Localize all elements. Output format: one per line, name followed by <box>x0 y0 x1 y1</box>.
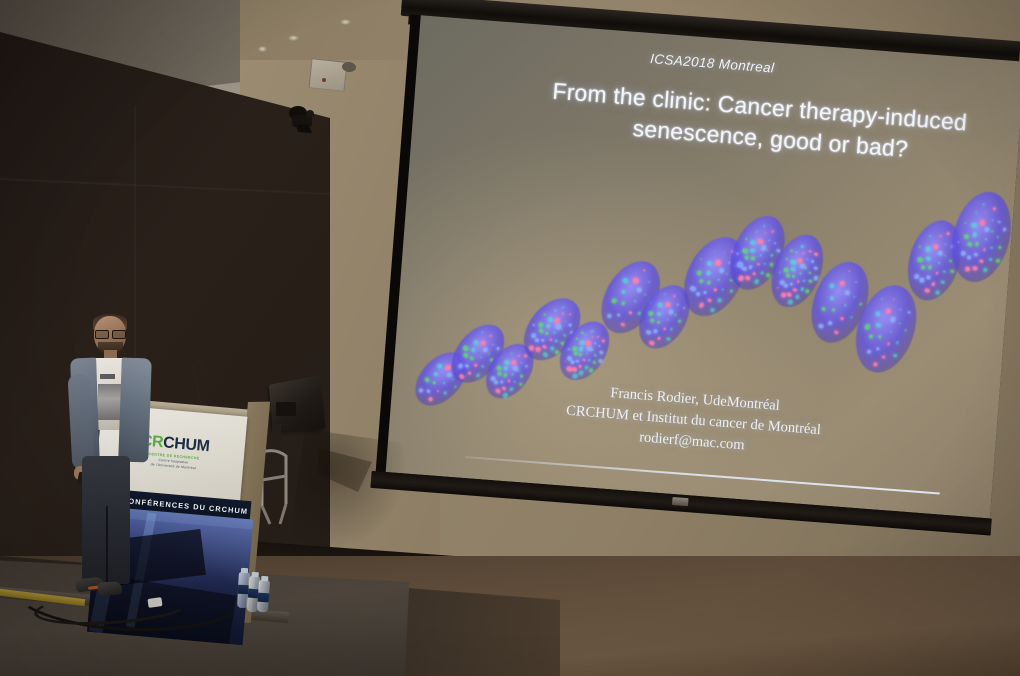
nucleus-speckle <box>920 265 925 270</box>
nucleus-speckle <box>990 246 993 249</box>
nucleus-speckle <box>938 262 940 264</box>
lens-left <box>95 330 109 339</box>
nucleus-speckle <box>853 296 855 298</box>
nucleus-speckle <box>670 327 673 330</box>
nucleus-speckle <box>898 322 900 324</box>
nucleus-speckle <box>436 362 443 369</box>
nucleus-speckle <box>511 352 513 354</box>
nucleus-speckle <box>644 294 646 296</box>
nucleus-speckle <box>802 279 805 282</box>
nucleus-speckle <box>643 269 645 271</box>
nucleus-speckle <box>528 344 535 351</box>
nucleus-speckle <box>933 244 939 250</box>
nucleus-speckle <box>418 387 424 393</box>
nucleus-speckle <box>929 235 931 237</box>
nucleus-speckle <box>724 252 726 254</box>
nucleus-speckle <box>855 281 857 283</box>
nucleus-speckle <box>621 289 627 295</box>
nucleus-speckle <box>876 323 881 328</box>
nucleus-speckle <box>564 320 566 322</box>
nucleus-speckle <box>544 331 549 336</box>
nucleus-speckle <box>598 344 601 347</box>
nucleus-speckle <box>805 288 811 294</box>
nucleus-speckle <box>590 330 593 333</box>
nucleus-speckle <box>944 255 946 257</box>
wall-shadow <box>288 429 411 561</box>
nucleus-speckle <box>754 278 760 284</box>
nucleus-speckle <box>828 282 835 289</box>
tshirt-graphic <box>98 384 122 420</box>
nucleus-speckle <box>562 313 564 315</box>
presenter <box>58 316 168 616</box>
nucleus-speckle <box>791 274 795 278</box>
nucleus-speckle <box>991 219 993 221</box>
nucleus-speckle <box>779 271 781 273</box>
nucleus-speckle <box>546 316 553 323</box>
nucleus-speckle <box>472 338 479 345</box>
nucleus-speckle <box>699 303 705 309</box>
nucleus-speckle <box>771 230 774 233</box>
nucleus-speckle <box>543 313 545 315</box>
nucleus-speckle <box>705 270 711 276</box>
nucleus-speckle <box>939 235 941 237</box>
nucleus-speckle <box>867 349 872 354</box>
nucleus-speckle <box>1003 228 1007 232</box>
nucleus-speckle <box>677 304 679 306</box>
nucleus-speckle <box>718 267 725 274</box>
nucleus-speckle <box>925 246 931 252</box>
nucleus-speckle <box>462 345 469 352</box>
nucleus-speckle <box>926 275 930 279</box>
nucleus-speckle <box>814 266 818 270</box>
nucleus-speckle <box>480 339 487 346</box>
nucleus-speckle <box>470 347 476 353</box>
nucleus-speckle <box>537 321 544 328</box>
nucleus-speckle <box>632 277 639 284</box>
nucleus-speckle <box>941 280 945 284</box>
nucleus-speckle <box>979 259 983 263</box>
nucleus-speckle <box>984 226 990 232</box>
lecture-hall-photo: ICSA2018 Montreal From the clinic: Cance… <box>0 0 1020 676</box>
nucleus-speckle <box>738 275 745 282</box>
nucleus-speckle <box>777 287 779 289</box>
nucleus-speckle <box>806 258 808 260</box>
nucleus-speckle <box>935 272 938 275</box>
recessed-downlight <box>288 35 299 41</box>
nucleus-speckle <box>878 334 882 338</box>
wall-mounted-camera-icon <box>286 105 322 135</box>
nucleus-speckle <box>793 288 797 292</box>
nucleus-speckle <box>578 370 584 376</box>
bottle-cap <box>261 576 268 581</box>
nucleus-speckle <box>592 336 594 338</box>
nucleus-speckle <box>459 373 465 379</box>
nucleus-speckle <box>785 273 791 279</box>
nucleus-speckle <box>458 363 464 369</box>
nucleus-speckle <box>998 246 1002 250</box>
nucleus-speckle <box>885 308 892 315</box>
nucleus-speckle <box>695 291 701 297</box>
nucleus-speckle <box>582 358 585 361</box>
nucleus-speckle <box>859 303 862 306</box>
nucleus-speckle <box>844 289 851 296</box>
nucleus-speckle <box>787 299 794 306</box>
screen-pull-handle[interactable] <box>672 497 689 506</box>
bottle-label <box>258 593 270 603</box>
nucleus-speckle <box>663 327 666 330</box>
nucleus-speckle <box>568 323 572 327</box>
nucleus-speckle <box>649 318 655 324</box>
nucleus-speckle <box>750 248 756 254</box>
nucleus-speckle <box>453 385 457 389</box>
nucleus-speckle <box>597 358 603 364</box>
nucleus-speckle <box>575 359 580 364</box>
nucleus-speckle <box>926 256 931 261</box>
nucleus-speckle <box>917 257 923 263</box>
nucleus-speckle <box>989 257 993 261</box>
nucleus-speckle <box>568 313 572 317</box>
nucleus-speckle <box>666 336 671 341</box>
nucleus-speckle <box>647 310 654 317</box>
bottle-cap <box>241 568 248 573</box>
nucleus-speckle <box>967 255 972 260</box>
nucleus-speckle <box>443 391 447 395</box>
nucleus-speckle <box>946 232 949 235</box>
nucleus-speckle <box>983 248 986 251</box>
nucleus-speckle <box>742 248 749 255</box>
nucleus-speckle <box>829 295 835 301</box>
nucleus-speckle <box>950 269 954 273</box>
nucleus-speckle <box>490 335 492 337</box>
nucleus-speckle <box>900 309 902 311</box>
nucleus-speckle <box>611 298 617 304</box>
nucleus-speckle <box>913 273 919 279</box>
nucleus-speckle <box>718 278 720 280</box>
nucleus-speckle <box>996 235 999 238</box>
nucleus-speckle <box>786 258 788 260</box>
nucleus-speckle <box>607 313 613 319</box>
nucleus-speckle <box>805 267 807 269</box>
nucleus-speckle <box>890 330 892 332</box>
nucleus-speckle <box>599 350 604 355</box>
nucleus-speckle <box>874 311 881 318</box>
recessed-downlight <box>258 46 267 52</box>
nucleus-speckle <box>766 249 768 251</box>
nucleus-speckle <box>500 357 502 359</box>
nucleus-speckle <box>573 351 579 357</box>
nucleus-speckle <box>998 220 1001 223</box>
nucleus-speckle <box>770 254 773 257</box>
lens-right <box>112 330 126 339</box>
nucleus-speckle <box>721 288 724 291</box>
nucleus-speckle <box>748 265 752 269</box>
nucleus-speckle <box>578 353 583 358</box>
nucleus-speckle <box>664 293 666 295</box>
nucleus-speckle <box>814 252 818 256</box>
nucleus-speckle <box>750 239 757 246</box>
nucleus-speckle <box>752 271 756 275</box>
nucleus-speckle <box>924 288 929 293</box>
nucleus-speckle <box>893 299 895 301</box>
nucleus-speckle <box>786 292 792 298</box>
nucleus-speckle <box>657 320 662 325</box>
logo-suffix: CHUM <box>162 434 210 455</box>
nucleus-speckle <box>706 260 713 267</box>
nucleus-speckle <box>889 316 896 323</box>
nucleus-speckle <box>588 367 594 373</box>
nucleus-speckle <box>943 270 946 273</box>
nucleus-speckle <box>533 324 535 326</box>
nucleus-speckle <box>682 306 685 309</box>
nucleus-speckle <box>797 280 800 283</box>
nucleus-speckle <box>709 307 715 313</box>
nucleus-speckle <box>540 338 545 343</box>
nucleus-speckle <box>566 365 573 372</box>
nucleus-speckle <box>667 319 669 321</box>
nucleus-speckle <box>571 345 578 352</box>
nucleus-speckle <box>881 298 883 300</box>
nucleus-speckle <box>673 295 675 297</box>
nucleus-speckle <box>667 308 674 315</box>
nucleus-speckle <box>958 241 960 243</box>
nucleus-speckle <box>634 300 636 302</box>
nucleus-speckle <box>504 359 511 366</box>
nucleus-speckle <box>931 282 935 286</box>
nucleus-speckle <box>481 331 483 333</box>
nucleus-speckle <box>715 259 722 266</box>
nucleus-speckle <box>790 267 796 273</box>
nucleus-speckle <box>963 234 969 240</box>
nucleus-speckle <box>864 324 871 331</box>
nucleus-speckle <box>744 255 750 261</box>
nucleus-speckle <box>601 338 606 343</box>
nucleus-speckle <box>564 361 566 363</box>
nucleus-speckle <box>965 222 967 224</box>
nucleus-speckle <box>821 307 827 313</box>
nucleus-speckle <box>949 259 952 262</box>
nucleus-speckle <box>967 242 972 247</box>
nucleus-speckle <box>790 249 793 252</box>
nucleus-speckle <box>808 279 812 283</box>
nucleus-speckle <box>789 282 793 286</box>
nucleus-speckle <box>737 253 739 255</box>
nucleus-speckle <box>773 241 776 244</box>
nucleus-speckle <box>717 298 722 303</box>
nucleus-speckle <box>542 344 547 349</box>
nucleus-speckle <box>433 371 439 377</box>
nucleus-speckle <box>873 362 878 367</box>
nucleus-speckle <box>488 352 490 354</box>
nucleus-speckle <box>550 346 555 351</box>
nucleus-speckle <box>561 328 563 330</box>
nucleus-speckle <box>451 378 453 380</box>
nucleus-speckle <box>975 212 977 214</box>
nucleus-speckle <box>729 289 734 294</box>
nucleus-speckle <box>703 290 708 295</box>
bottle-cap <box>251 572 258 578</box>
nucleus-speckle <box>594 353 597 356</box>
nucleus-speckle <box>525 365 528 368</box>
nucleus-speckle <box>768 239 770 241</box>
nucleus-speckle <box>876 347 880 351</box>
nucleus-speckle <box>844 304 846 306</box>
nucleus-speckle <box>656 302 663 309</box>
nucleus-speckle <box>960 251 966 257</box>
cable-connector <box>147 597 162 608</box>
nucleus-speckle <box>975 242 979 246</box>
nucleus-speckle <box>995 258 1000 263</box>
nucleus-speckle <box>726 273 728 275</box>
nucleus-speckle <box>674 314 676 316</box>
nucleus-speckle <box>698 278 704 284</box>
nucleus-speckle <box>554 309 556 311</box>
nucleus-speckle <box>840 317 843 320</box>
nucleus-speckle <box>800 272 802 274</box>
projection-screen: ICSA2018 Montreal From the clinic: Cance… <box>365 0 1020 554</box>
nucleus-speckle <box>945 243 947 245</box>
nucleus-speckle <box>586 352 588 354</box>
monitor-mount <box>276 402 296 416</box>
nucleus-speckle <box>756 231 758 233</box>
nucleus-speckle <box>794 294 800 300</box>
nucleus-speckle <box>428 397 433 402</box>
nucleus-speckle <box>568 348 570 350</box>
nucleus-speckle <box>665 301 672 308</box>
nucleus-speckle <box>700 258 702 260</box>
nucleus-speckle <box>713 288 716 291</box>
nucleus-speckle <box>764 232 766 234</box>
nucleus-speckle <box>578 364 583 369</box>
nucleus-speckle <box>713 250 715 252</box>
nucleus-speckle <box>972 265 977 270</box>
nucleus-speckle <box>813 275 819 281</box>
nucleus-speckle <box>432 380 437 385</box>
nucleus-speckle <box>542 351 548 357</box>
nucleus-speckle <box>443 382 445 384</box>
nucleus-speckle <box>495 364 502 371</box>
nucleus-speckle <box>801 245 804 248</box>
nucleus-speckle <box>928 265 932 269</box>
nucleus-speckle <box>765 273 771 279</box>
nucleus-speckle <box>576 338 578 340</box>
nucleus-speckle <box>592 349 594 351</box>
nucleus-speckle <box>518 370 520 372</box>
nucleus-speckle <box>800 287 804 291</box>
nucleus-speckle <box>648 281 650 283</box>
nucleus-speckle <box>783 267 790 274</box>
nucleus-speckle <box>571 373 578 380</box>
nucleus-speckle <box>828 321 832 325</box>
nucleus-speckle <box>882 355 886 359</box>
nucleus-speckle <box>707 298 712 303</box>
nucleus-speckle <box>790 259 797 266</box>
nucleus-speckle <box>741 266 747 272</box>
nucleus-speckle <box>763 262 766 265</box>
tshirt-logo <box>100 374 115 379</box>
nucleus-speckle <box>594 342 596 344</box>
nucleus-speckle <box>971 222 977 228</box>
nucleus-speckle <box>919 246 921 248</box>
nucleus-speckle <box>492 343 494 345</box>
nucleus-speckle <box>760 254 762 256</box>
nucleus-speckle <box>839 280 846 287</box>
nucleus-speckle <box>993 207 996 210</box>
nucleus-speckle <box>983 267 988 272</box>
nucleus-speckle <box>904 329 907 332</box>
nucleus-speckle <box>919 278 924 283</box>
nucleus-speckle <box>809 250 812 253</box>
nucleus-speckle <box>657 336 662 341</box>
nucleus-speckle <box>795 251 797 253</box>
nucleus-speckle <box>469 356 474 361</box>
nucleus-speckle <box>636 286 643 293</box>
nucleus-speckle <box>562 306 566 310</box>
nucleus-speckle <box>445 371 452 378</box>
nucleus-speckle <box>549 338 553 342</box>
nucleus-speckle <box>937 250 943 256</box>
nucleus-speckle <box>751 256 755 260</box>
nucleus-speckle <box>868 333 873 338</box>
panel-seam <box>0 178 330 195</box>
nucleus-speckle <box>893 354 897 358</box>
nucleus-speckle <box>991 231 993 233</box>
nucleus-speckle <box>653 329 658 334</box>
nucleus-speckle <box>554 331 556 333</box>
nucleus-speckle <box>964 266 970 272</box>
nucleus-speckle <box>520 362 522 364</box>
nucleus-speckle <box>811 260 814 263</box>
nucleus-speckle <box>518 355 520 357</box>
nucleus-speckle <box>646 329 652 335</box>
nucleus-speckle <box>760 271 764 275</box>
recessed-downlight <box>340 19 351 25</box>
nucleus-speckle <box>985 238 987 240</box>
nucleus-speckle <box>850 315 853 318</box>
nucleus-speckle <box>524 354 527 357</box>
nucleus-speckle <box>588 359 591 362</box>
ceiling-mounted-box <box>309 58 348 92</box>
nucleus-speckle <box>585 334 587 336</box>
nucleus-speckle <box>424 377 430 383</box>
nucleus-speckle <box>834 330 838 334</box>
nucleus-speckle <box>745 275 751 281</box>
nucleus-speckle <box>563 334 567 338</box>
nucleus-speckle <box>649 340 655 346</box>
nucleus-speckle <box>474 364 478 368</box>
nucleus-speckle <box>907 311 910 314</box>
nucleus-speckle <box>463 352 469 358</box>
nucleus-speckle <box>503 366 509 372</box>
nucleus-speckle <box>616 313 621 318</box>
nucleus-speckle <box>622 277 629 284</box>
nucleus-speckle <box>621 322 626 327</box>
nucleus-speckle <box>696 270 703 277</box>
screen-surface: ICSA2018 Montreal From the clinic: Cance… <box>386 15 1020 518</box>
nucleus-speckle <box>849 270 851 272</box>
confidence-monitor <box>266 380 328 436</box>
nucleus-speckle <box>689 285 696 292</box>
nucleus-speckle <box>621 301 626 306</box>
nucleus-speckle <box>465 364 470 369</box>
nucleus-speckle <box>553 317 560 324</box>
nucleus-speckle <box>629 311 632 314</box>
nucleus-speckle <box>972 232 977 237</box>
nucleus-speckle <box>426 389 431 394</box>
eyeglasses-icon <box>95 330 125 337</box>
nucleus-speckle <box>803 252 805 254</box>
nucleus-speckle <box>745 238 747 240</box>
nucleus-speckle <box>935 290 940 295</box>
